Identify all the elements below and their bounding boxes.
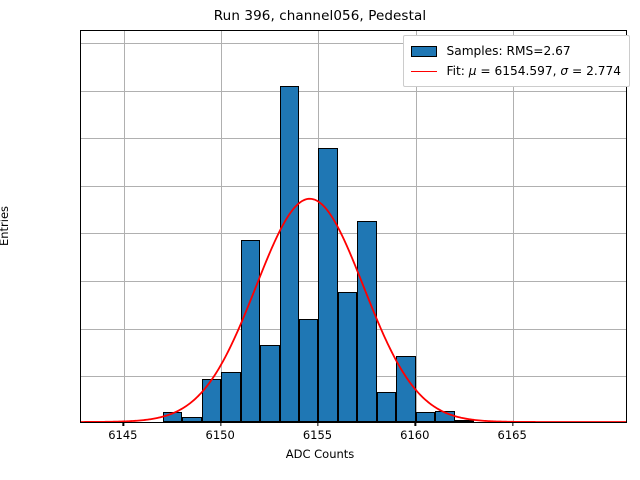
legend: Samples: RMS=2.67 Fit: μ = 6154.597, σ =…: [403, 35, 630, 87]
plot-area: [80, 30, 627, 423]
mu-symbol: μ: [469, 64, 477, 78]
y-axis-label: Entries: [0, 206, 11, 246]
x-axis-label: ADC Counts: [0, 447, 640, 461]
legend-swatch-fit: [411, 71, 437, 72]
legend-item-samples: Samples: RMS=2.67: [411, 41, 621, 61]
legend-swatch-samples: [411, 46, 437, 57]
x-tick-label: 6160: [400, 428, 429, 442]
chart-title: Run 396, channel056, Pedestal: [0, 8, 640, 24]
x-tick-label: 6165: [498, 428, 527, 442]
x-tick-label: 6155: [303, 428, 332, 442]
x-tick-label: 6145: [108, 428, 137, 442]
sigma-symbol: σ: [560, 64, 568, 78]
gaussian-fit-curve: [81, 31, 626, 422]
legend-label-samples: Samples: RMS=2.67: [446, 44, 570, 58]
legend-item-fit: Fit: μ = 6154.597, σ = 2.774: [411, 61, 621, 81]
x-tick-label: 6150: [206, 428, 235, 442]
chart-figure: Run 396, channel056, Pedestal Entries AD…: [0, 0, 640, 480]
legend-label-fit: Fit: μ = 6154.597, σ = 2.774: [446, 64, 621, 78]
